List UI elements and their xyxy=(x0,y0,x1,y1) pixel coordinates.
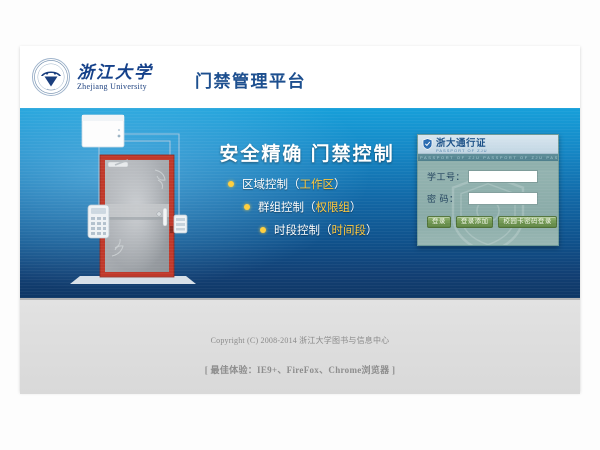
feature-label: 区域控制（ xyxy=(242,176,300,192)
login-panel-subtitle: PASSPORT OF ZJU xyxy=(436,149,487,153)
copyright-text: Copyright (C) 2008-2014 浙江大学图书与信息中心 xyxy=(20,335,580,346)
feature-tail: ） xyxy=(334,176,346,192)
field-row-password: 密 码： xyxy=(418,192,558,205)
list-item: 时段控制（ 时间段 ） xyxy=(192,222,424,238)
feature-highlight: 工作区 xyxy=(300,176,335,192)
feature-highlight: 时间段 xyxy=(332,222,367,238)
university-logo[interactable]: 浙江大学 Zhejiang University xyxy=(32,58,153,96)
page-title: 门禁管理平台 xyxy=(195,67,306,92)
site-header: 浙江大学 Zhejiang University 门禁管理平台 xyxy=(20,46,580,108)
userid-label: 学工号： xyxy=(427,170,468,183)
login-button[interactable]: 登录 xyxy=(427,216,451,228)
userid-input[interactable] xyxy=(468,170,538,183)
campus-card-password-login-button[interactable]: 校园卡密码登录 xyxy=(498,216,556,228)
logo-wordmark: 浙江大学 Zhejiang University xyxy=(77,64,153,91)
page-root: 浙江大学 Zhejiang University 门禁管理平台 xyxy=(0,0,600,450)
shield-icon xyxy=(422,138,433,150)
password-label: 密 码： xyxy=(427,192,468,205)
feature-highlight: 权限组 xyxy=(316,199,351,215)
browser-support-text: [ 最佳体验：IE9+、FireFox、Chrome浏览器 ] xyxy=(20,363,580,376)
zju-seal-icon xyxy=(32,58,70,96)
login-button-row: 登录 登录添加 校园卡密码登录 xyxy=(418,216,558,228)
banner-headline: 安全精确 门禁控制 xyxy=(192,139,422,166)
password-input[interactable] xyxy=(468,192,538,205)
door-access-control-illustration xyxy=(58,108,208,298)
list-item: 群组控制（ 权限组 ） xyxy=(192,199,424,215)
feature-tail: ） xyxy=(366,222,378,238)
site-footer: Copyright (C) 2008-2014 浙江大学图书与信息中心 [ 最佳… xyxy=(20,298,580,394)
field-row-userid: 学工号： xyxy=(418,170,558,183)
passport-watermark-strip: PASSPORT OF ZJU PASSPORT OF ZJU PASSPORT… xyxy=(418,154,558,161)
hero-banner: 安全精确 门禁控制 区域控制（ 工作区 ） 群组控制（ 权限组 ） 时段 xyxy=(20,108,580,298)
feature-tail: ） xyxy=(350,199,362,215)
main-card: 浙江大学 Zhejiang University 门禁管理平台 xyxy=(20,46,580,392)
feature-list: 区域控制（ 工作区 ） 群组控制（ 权限组 ） 时段控制（ 时间段 ） xyxy=(192,176,424,245)
bullet-dot-icon xyxy=(244,204,250,210)
login-form: 学工号： 密 码： 登录 登录添加 校园卡密码登录 xyxy=(418,170,558,246)
bullet-dot-icon xyxy=(260,227,266,233)
login-add-button[interactable]: 登录添加 xyxy=(456,216,494,228)
university-name-en: Zhejiang University xyxy=(77,83,153,91)
feature-label: 群组控制（ xyxy=(258,199,316,215)
feature-label: 时段控制（ xyxy=(274,222,332,238)
login-panel-header: 浙大通行证 PASSPORT OF ZJU xyxy=(418,135,558,154)
bullet-dot-icon xyxy=(228,181,234,187)
login-panel: 浙大通行证 PASSPORT OF ZJU PASSPORT OF ZJU PA… xyxy=(417,134,559,246)
university-name-cn: 浙江大学 xyxy=(77,64,153,81)
list-item: 区域控制（ 工作区 ） xyxy=(192,176,424,192)
